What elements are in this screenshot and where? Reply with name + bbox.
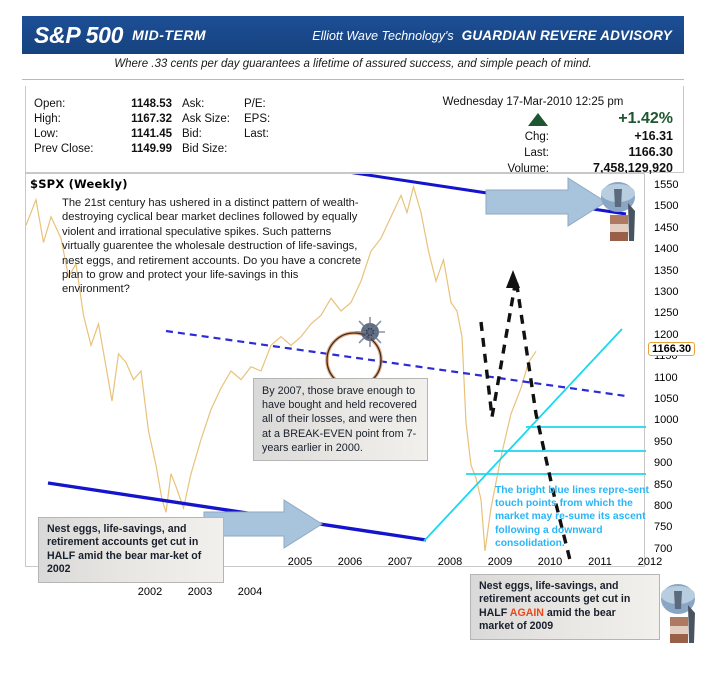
quote-label-blank xyxy=(244,143,302,155)
quote-chg-value: +16.31 xyxy=(555,129,673,144)
header-subtitle: MID-TERM xyxy=(132,27,206,43)
quote-label-low: Low: xyxy=(34,128,106,140)
quote-label-eps: EPS: xyxy=(244,113,302,125)
price-tick-700: 700 xyxy=(654,543,672,555)
person-figurine-top-icon xyxy=(598,181,642,267)
quote-percent-change: +1.42% xyxy=(618,110,673,128)
quote-label-ask-size: Ask Size: xyxy=(182,113,244,125)
price-tick-750: 750 xyxy=(654,521,672,533)
callout-bear-2002-line1: Nest eggs, life-savings, and retirement … xyxy=(47,523,187,548)
time-axis-primary: 20052006200720082009201020112012 xyxy=(25,556,645,576)
callout-touch-points: The bright blue lines repre-sent touch p… xyxy=(495,484,651,550)
callout-breakeven: By 2007, those brave enough to have boug… xyxy=(253,378,428,461)
lead-paragraph: The 21st century has ushered in a distin… xyxy=(62,196,362,297)
time-tick-2007: 2007 xyxy=(388,556,412,568)
quote-change-row: +1.42% xyxy=(393,110,673,128)
quote-value-low: 1141.45 xyxy=(106,128,182,140)
block-arrow-upper xyxy=(486,178,606,226)
quote-last-value: 1166.30 xyxy=(555,145,673,160)
chart-symbol-label: $SPX (Weekly) xyxy=(30,177,128,191)
price-tick-1400: 1400 xyxy=(654,243,678,255)
quote-label-open: Open: xyxy=(34,98,106,110)
triangle-up-icon xyxy=(528,113,548,126)
time-tick-2012: 2012 xyxy=(638,556,662,568)
quote-label-bid-size: Bid Size: xyxy=(182,143,244,155)
time-axis-secondary: 200220032004 xyxy=(25,586,325,606)
forecast-arrowhead-up xyxy=(506,270,520,288)
callout-bear-2009-emphasis: AGAIN xyxy=(510,607,544,619)
page-title: S&P 500 xyxy=(34,22,123,49)
quote-label-last-left: Last: xyxy=(244,128,302,140)
quote-last-label: Last: xyxy=(524,146,549,161)
price-tick-950: 950 xyxy=(654,436,672,448)
quote-last-row: Last: 1166.30 xyxy=(393,145,673,161)
callout-bear-2009: Nest eggs, life-savings, and retirement … xyxy=(470,574,660,640)
price-tick-1300: 1300 xyxy=(654,286,678,298)
quote-label-ask: Ask: xyxy=(182,98,244,110)
time-tick-2003: 2003 xyxy=(188,586,212,598)
header-product: GUARDIAN REVERE ADVISORY xyxy=(462,28,672,43)
quote-label-prev-close: Prev Close: xyxy=(34,143,106,155)
price-tick-1050: 1050 xyxy=(654,393,678,405)
price-tick-1100: 1100 xyxy=(654,372,678,384)
price-tick-1450: 1450 xyxy=(654,222,678,234)
header-banner: S&P 500 MID-TERM Elliott Wave Technology… xyxy=(22,16,684,54)
time-tick-2006: 2006 xyxy=(338,556,362,568)
time-tick-2004: 2004 xyxy=(238,586,262,598)
advisory-page: S&P 500 MID-TERM Elliott Wave Technology… xyxy=(0,0,711,675)
current-price-tag: 1166.30 xyxy=(648,342,695,356)
time-tick-2009: 2009 xyxy=(488,556,512,568)
person-figurine-bottom-icon xyxy=(658,583,702,669)
quote-label-bid: Bid: xyxy=(182,128,244,140)
price-tick-1000: 1000 xyxy=(654,414,678,426)
quote-panel: Open: 1148.53 Ask: P/E: High: 1167.32 As… xyxy=(25,86,684,173)
tagline-divider xyxy=(22,79,684,80)
quote-summary: Wednesday 17-Mar-2010 12:25 pm +1.42% Ch… xyxy=(393,96,673,177)
price-tick-1500: 1500 xyxy=(654,200,678,212)
tagline: Where .33 cents per day guarantees a lif… xyxy=(22,58,684,70)
price-tick-850: 850 xyxy=(654,479,672,491)
quote-value-prev-close: 1149.99 xyxy=(106,143,182,155)
quote-label-high: High: xyxy=(34,113,106,125)
quote-value-open: 1148.53 xyxy=(106,98,182,110)
price-axis: 1166.30 15501500145014001350130012501200… xyxy=(648,173,708,567)
time-tick-2005: 2005 xyxy=(288,556,312,568)
header-company: Elliott Wave Technology's xyxy=(312,29,453,43)
time-tick-2008: 2008 xyxy=(438,556,462,568)
time-tick-2010: 2010 xyxy=(538,556,562,568)
quote-chg-label: Chg: xyxy=(525,130,549,145)
time-tick-2002: 2002 xyxy=(138,586,162,598)
price-tick-1200: 1200 xyxy=(654,329,678,341)
quote-chg-row: Chg: +16.31 xyxy=(393,129,673,145)
time-tick-2011: 2011 xyxy=(588,556,612,568)
quote-value-high: 1167.32 xyxy=(106,113,182,125)
quote-label-pe: P/E: xyxy=(244,98,302,110)
price-tick-1250: 1250 xyxy=(654,307,678,319)
quote-datetime: Wednesday 17-Mar-2010 12:25 pm xyxy=(393,96,673,108)
price-tick-800: 800 xyxy=(654,500,672,512)
quote-table: Open: 1148.53 Ask: P/E: High: 1167.32 As… xyxy=(34,98,302,155)
price-tick-1550: 1550 xyxy=(654,179,678,191)
price-tick-900: 900 xyxy=(654,457,672,469)
header-brand: Elliott Wave Technology's GUARDIAN REVER… xyxy=(312,28,672,43)
price-tick-1350: 1350 xyxy=(654,265,678,277)
